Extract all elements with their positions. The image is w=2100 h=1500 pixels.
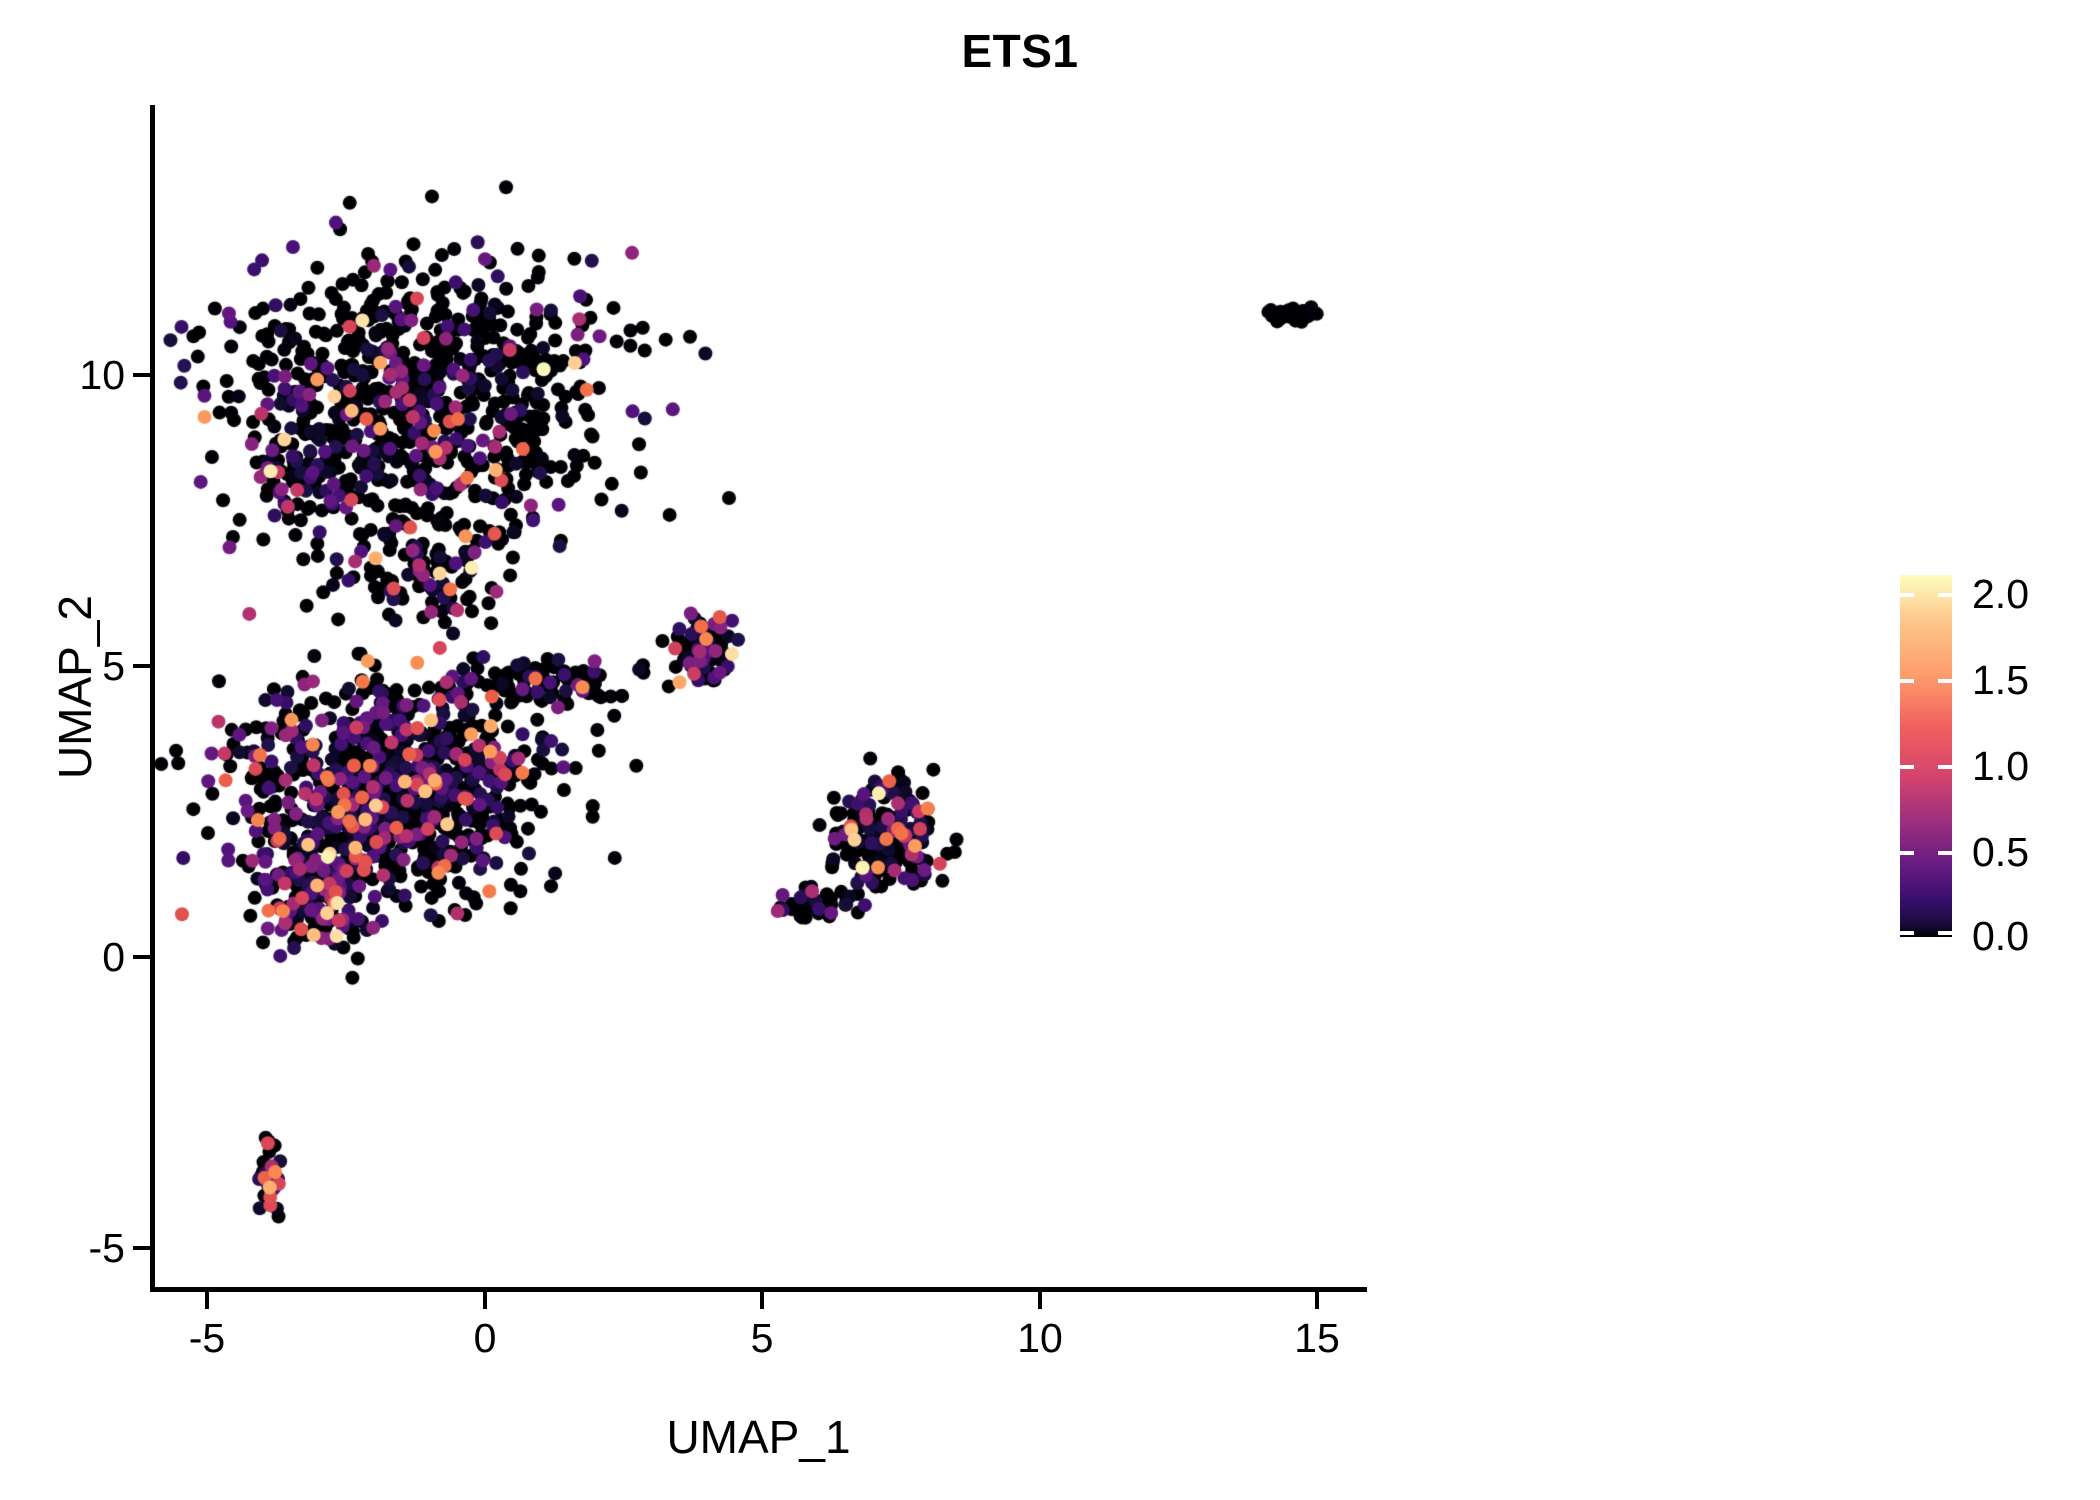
- colorbar-label: 0.5: [1972, 829, 2100, 876]
- colorbar-tick: [1900, 679, 1914, 683]
- colorbar-tick: [1938, 851, 1952, 855]
- colorbar-tick: [1938, 593, 1952, 597]
- y-tick-label: -5: [5, 1225, 125, 1272]
- colorbar-tick: [1900, 851, 1914, 855]
- x-tick-label: -5: [147, 1315, 267, 1362]
- scatter-points-canvas: [152, 105, 1365, 1290]
- colorbar-tick: [1938, 931, 1952, 935]
- colorbar-label: 0.0: [1972, 913, 2100, 960]
- x-tick-label: 5: [702, 1315, 822, 1362]
- x-tick-label: 15: [1257, 1315, 1377, 1362]
- y-axis-line: [150, 105, 155, 1292]
- colorbar-label: 1.5: [1972, 657, 2100, 704]
- colorbar-label: 1.0: [1972, 743, 2100, 790]
- colorbar-gradient: [1900, 575, 1952, 937]
- x-tick-label: 0: [425, 1315, 545, 1362]
- colorbar-label: 2.0: [1972, 571, 2100, 618]
- colorbar-tick: [1900, 931, 1914, 935]
- y-tick-mark: [133, 373, 150, 377]
- x-axis-line: [150, 1287, 1367, 1292]
- y-tick-mark: [133, 1246, 150, 1250]
- x-tick-mark: [1038, 1292, 1042, 1309]
- y-tick-mark: [133, 955, 150, 959]
- colorbar-tick: [1900, 593, 1914, 597]
- x-tick-label: 10: [980, 1315, 1100, 1362]
- y-tick-mark: [133, 664, 150, 668]
- x-tick-mark: [760, 1292, 764, 1309]
- colorbar-tick: [1938, 679, 1952, 683]
- scatter-plot-panel: [152, 105, 1365, 1290]
- x-tick-mark: [483, 1292, 487, 1309]
- x-tick-mark: [1315, 1292, 1319, 1309]
- page-title: ETS1: [0, 24, 2040, 78]
- colorbar-tick: [1938, 765, 1952, 769]
- x-tick-mark: [205, 1292, 209, 1309]
- colorbar-tick: [1900, 765, 1914, 769]
- x-axis-label: UMAP_1: [152, 1410, 1365, 1464]
- y-axis-label: UMAP_2: [48, 307, 102, 1067]
